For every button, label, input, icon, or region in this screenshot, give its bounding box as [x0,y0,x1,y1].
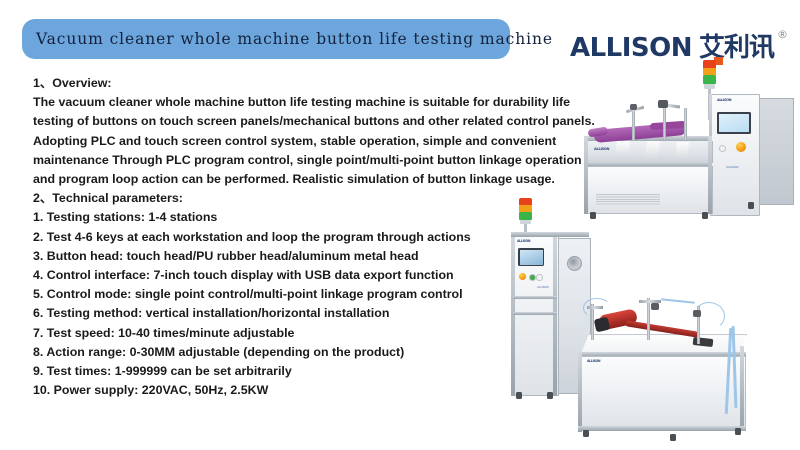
overview-line: maintenance Through PLC program control,… [33,151,578,170]
fixture-block [675,142,689,158]
overview-line: Adopting PLC and touch screen control sy… [33,132,578,151]
fixture-block [645,141,660,158]
overview-line: testing of buttons on touch screen panel… [33,112,578,131]
control-tower-logo: ALLISON [717,99,731,102]
overview-line: The vacuum cleaner whole machine button … [33,93,578,112]
registered-trademark-icon: ® [777,28,788,41]
signal-lamp-green-icon [703,75,716,84]
logo-chinese-wrap: 艾利讯 [699,34,774,62]
cabinet-caster [547,392,553,399]
fixture-block [615,141,630,157]
signal-tower-base [520,220,531,224]
signal-lamp-amber-icon [703,67,716,75]
cabinet-touchscreen-display [520,250,543,265]
cabinet-side-fan-vent [567,256,582,271]
pneumatic-tube [661,298,695,304]
test-stand-post [647,298,650,340]
test-head-clamp [651,303,659,310]
cabinet-sublabel: ALLISON [537,286,548,289]
rear-cabinet [758,98,794,205]
cabinet-seam [513,312,557,315]
page-title: Vacuum cleaner whole machine button life… [36,30,553,48]
emergency-stop-button[interactable] [736,142,746,152]
test-arm-vertical [684,108,687,140]
title-banner: Vacuum cleaner whole machine button life… [22,19,510,59]
control-tower-touchscreen[interactable] [717,112,751,134]
signal-lamp-green-icon [519,212,532,220]
cabinet-touchscreen[interactable] [518,248,544,266]
logo-wordmark: ALLISON [570,34,692,62]
start-button[interactable] [719,145,726,152]
signal-lamp-red-icon [703,60,716,68]
bench-logo: ALLISON [587,360,600,363]
cabinet-emergency-stop-button[interactable] [519,273,526,280]
product-photo-cabinet-bench: ALLISON ALLISON ALLISON [495,200,800,450]
test-head-clamp [630,104,637,110]
bench-caster [583,430,589,437]
bench-caster [670,434,676,441]
overview-heading: 1、Overview: [33,74,578,93]
bench-logo: ALLISON [594,148,609,152]
cabinet-logo: ALLISON [517,240,530,243]
cabinet-seam [513,296,557,299]
pneumatic-tube [583,298,611,318]
test-head-clamp [658,100,668,108]
logo-chinese: 艾利讯 [699,33,774,63]
bench-body [580,356,746,430]
bench-right-post [740,346,744,428]
cabinet-caster [516,392,522,399]
bench-caster [735,428,741,435]
cabinet-left-post [511,234,515,396]
control-tower-sublabel: ALLISON [726,166,738,169]
signal-lamp-amber-icon [519,205,532,212]
test-specimen-motor-head [594,317,610,333]
overview-line: and program loop action can be performed… [33,170,578,189]
cabinet-button[interactable] [536,274,543,281]
touchscreen-display [719,114,749,132]
signal-tower-base [704,84,715,89]
cabinet-top-rail [511,232,589,237]
cabinet-corner-post [553,234,557,396]
cabinet-button[interactable] [529,274,536,281]
signal-lamp-red-icon [519,198,532,205]
pneumatic-tube [693,302,725,330]
bench-bottom-rail [578,426,746,431]
bench-left-post [578,352,582,432]
